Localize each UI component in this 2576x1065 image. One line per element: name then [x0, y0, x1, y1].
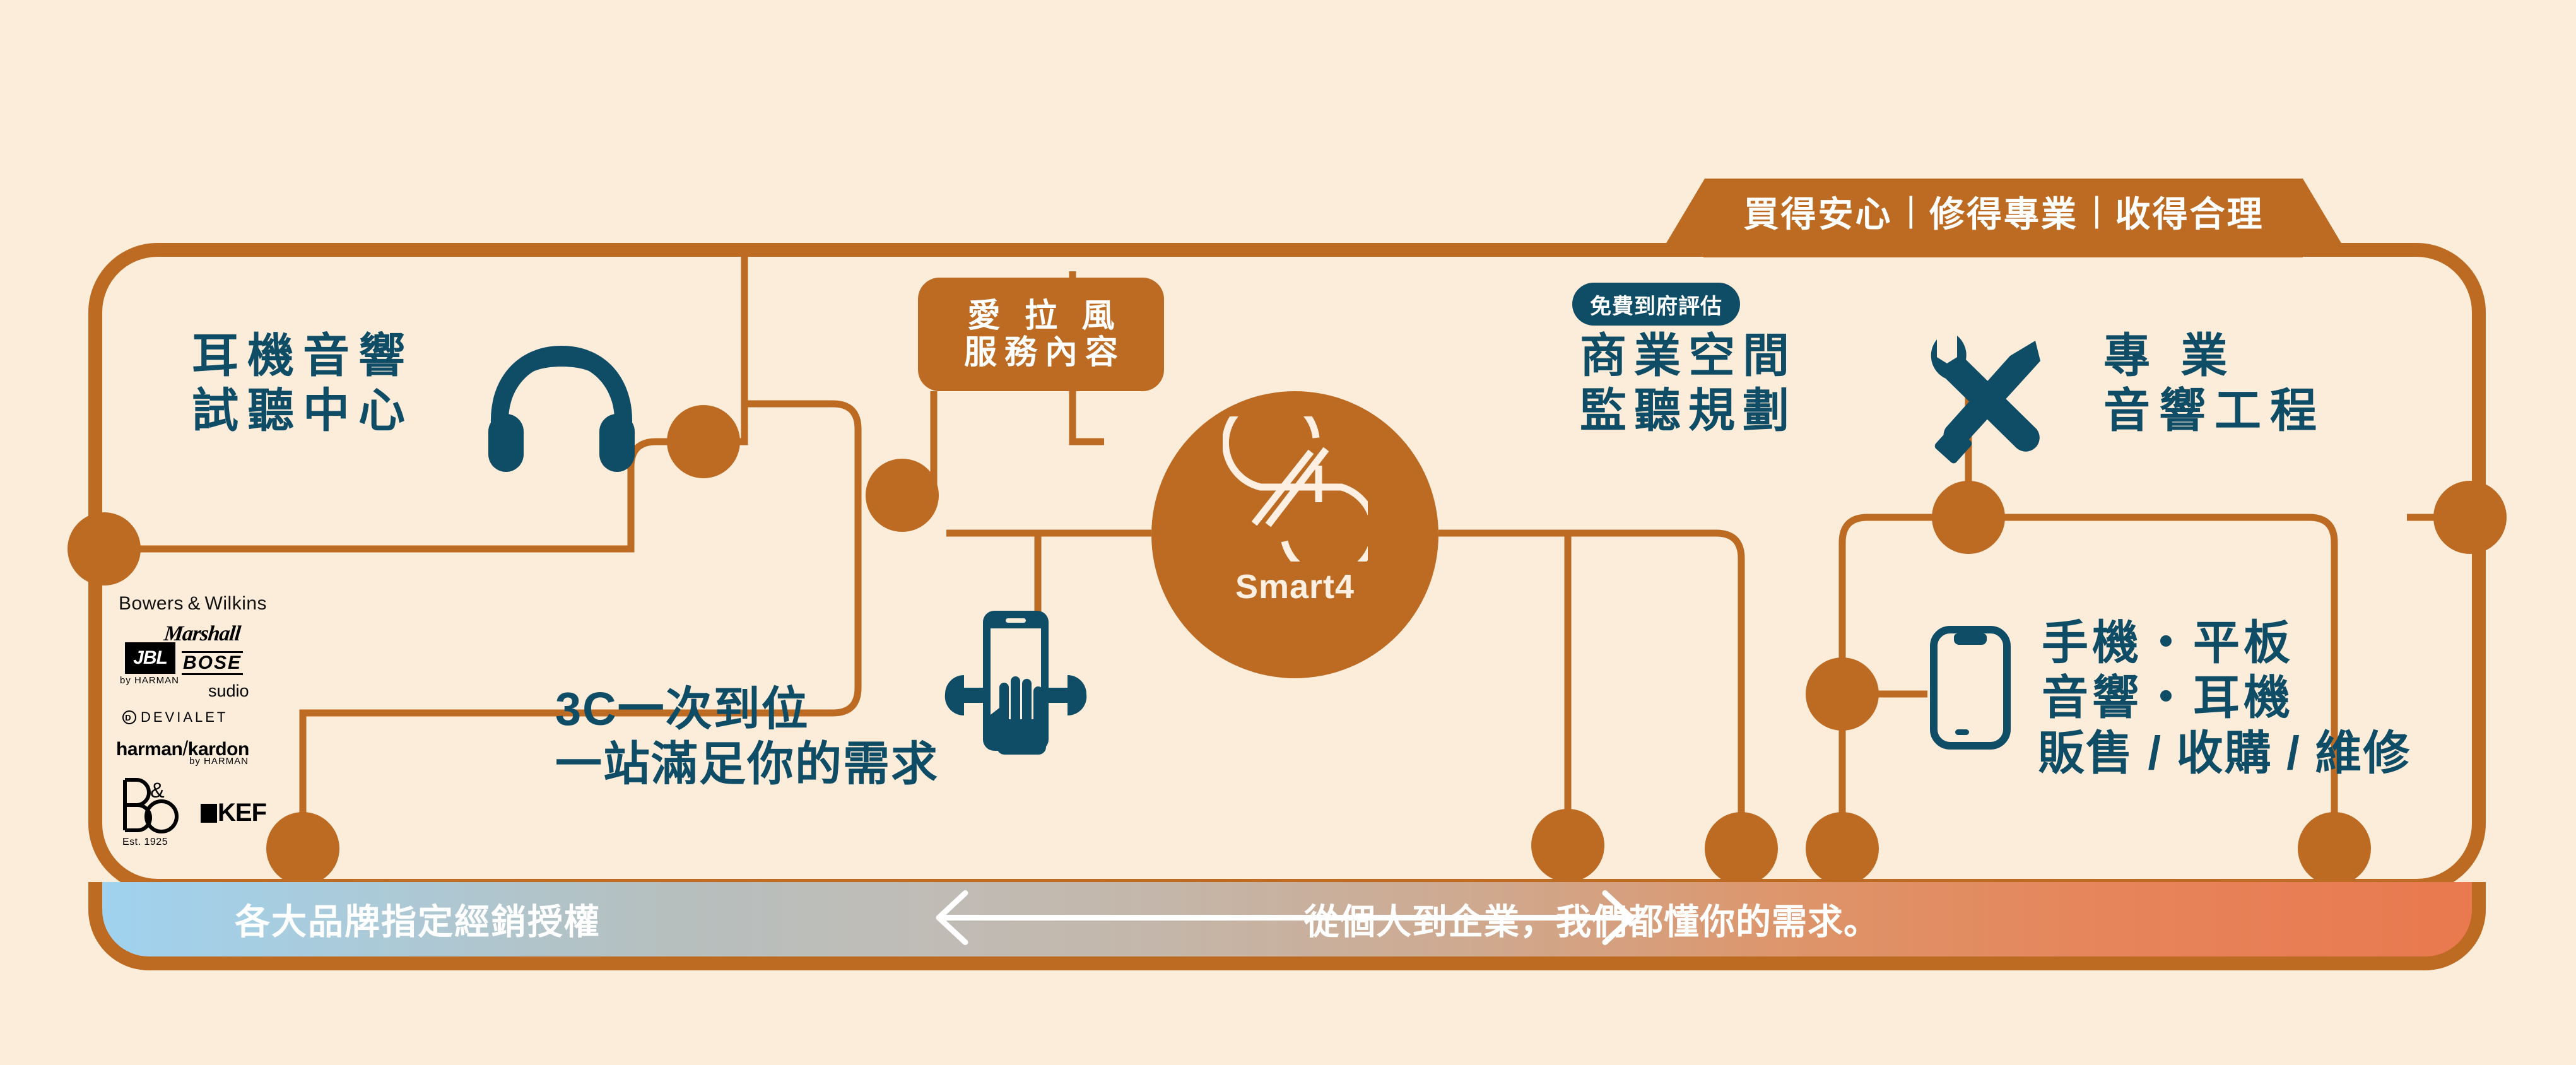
service-badge-line1: 愛 拉 風	[960, 298, 1122, 334]
brand-bang-olufsen-sub: Est. 1925	[122, 837, 168, 848]
header-item-1: 修得專業	[1929, 186, 2078, 237]
brand-jbl-text: JBL	[133, 647, 167, 669]
wrench-screwdriver-icon	[1918, 328, 2057, 467]
headphone-center-line1: 耳機音響	[183, 328, 414, 383]
block-three-c: 3C一次到位 一站滿足你的需求	[555, 681, 939, 792]
commercial-line1: 商業空間	[1572, 328, 1797, 383]
bottom-gradient-banner: 各大品牌指定經銷授權 從個人到企業，我們都懂你的需求。	[88, 882, 2486, 970]
devialet-mark-icon: D	[122, 710, 136, 724]
banner-right-text: 從個人到企業，我們都懂你的需求。	[1304, 894, 1879, 945]
header-separator-1: |	[2092, 189, 2102, 230]
mobile-line3: 販售 / 收購 / 維修	[2038, 726, 2411, 780]
frame-tab-merge	[1703, 238, 2303, 257]
svg-text:&: &	[150, 779, 165, 803]
brand-jbl: JBL	[125, 642, 175, 674]
block-commercial-space: 商業空間 監聽規劃	[1572, 328, 1797, 438]
mobile-line1: 手機・平板	[2038, 615, 2411, 670]
brand-devialet: D DEVIALET	[122, 709, 228, 726]
kef-square-icon	[201, 804, 217, 823]
brand-sudio: sudio	[208, 681, 249, 701]
hk-slash: /	[182, 737, 187, 760]
infographic-canvas: 買得安心 | 修得專業 | 收得合理 耳機音響 試聽中心 Bowers & Wi…	[0, 0, 2576, 1065]
commercial-line2: 監聽規劃	[1572, 383, 1797, 438]
header-separator-0: |	[1906, 189, 1915, 230]
header-item-2: 收得合理	[2115, 186, 2264, 237]
brand-kef-text: KEF	[218, 799, 266, 827]
header-tagline-tab: 買得安心 | 修得專業 | 收得合理	[1666, 179, 2342, 244]
banner-left-text: 各大品牌指定經銷授權	[235, 894, 601, 945]
service-content-badge: 愛 拉 風 服務內容	[918, 278, 1164, 391]
brand-harman-kardon-sub: by HARMAN	[189, 756, 249, 767]
free-evaluation-badge: 免費到府評估	[1572, 283, 1740, 326]
block-headphone-center: 耳機音響 試聽中心	[183, 328, 414, 438]
hub-brand-name: Smart4	[1235, 567, 1355, 606]
service-badge-line2: 服務內容	[956, 334, 1126, 371]
central-hub: Smart4	[1151, 391, 1438, 678]
phone-repair-hand-icon	[940, 599, 1091, 760]
brand-kef: KEF	[201, 799, 266, 827]
brand-devialet-text: DEVIALET	[141, 709, 228, 726]
headphones-icon	[479, 341, 644, 476]
block-pro-audio: 專 業 音響工程	[2095, 328, 2326, 438]
s4-monogram-logo	[1223, 416, 1368, 565]
headphone-center-line2: 試聽中心	[183, 383, 414, 438]
smartphone-icon	[1927, 625, 2013, 754]
mobile-line2: 音響・耳機	[2038, 670, 2411, 725]
three-c-line1: 3C一次到位	[555, 681, 939, 736]
brand-bang-olufsen: &	[120, 776, 182, 834]
hk-text-a: harman	[116, 739, 182, 760]
brand-bose: BOSE	[182, 651, 243, 675]
free-evaluation-label: 免費到府評估	[1590, 289, 1722, 320]
brand-bowers-wilkins: Bowers & Wilkins	[119, 593, 267, 615]
block-mobile-services: 手機・平板 音響・耳機 販售 / 收購 / 維修	[2038, 615, 2411, 780]
three-c-line2: 一站滿足你的需求	[555, 736, 939, 791]
brand-logo-wall: Bowers & Wilkins Marshall JBL by HARMAN …	[95, 593, 303, 858]
header-item-0: 買得安心	[1743, 186, 1892, 237]
pro-audio-line1: 專 業	[2095, 328, 2326, 383]
pro-audio-line2: 音響工程	[2095, 383, 2326, 438]
brand-jbl-sub: by HARMAN	[120, 675, 179, 686]
